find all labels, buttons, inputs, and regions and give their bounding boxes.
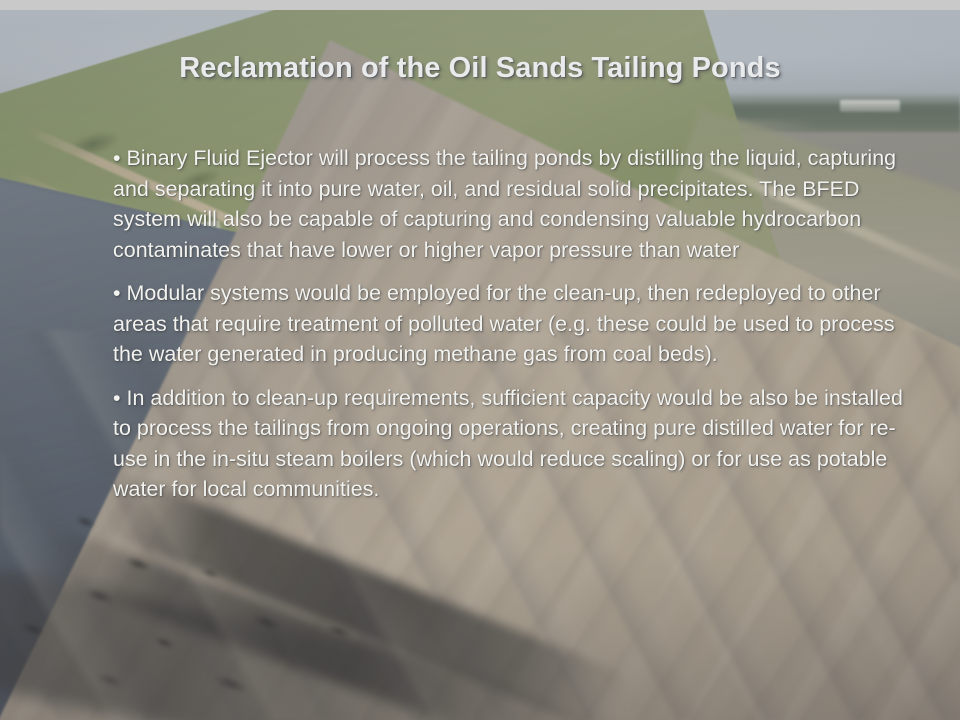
slide-body-text: • Binary Fluid Ejector will process the …	[113, 143, 913, 505]
bullet-paragraph-1: • Binary Fluid Ejector will process the …	[113, 143, 913, 265]
slide-content: Reclamation of the Oil Sands Tailing Pon…	[0, 0, 960, 720]
slide-title: Reclamation of the Oil Sands Tailing Pon…	[0, 52, 960, 85]
presentation-slide: Reclamation of the Oil Sands Tailing Pon…	[0, 0, 960, 720]
bullet-paragraph-2: • Modular systems would be employed for …	[113, 278, 913, 370]
bullet-paragraph-3: • In addition to clean-up requirements, …	[113, 383, 913, 505]
